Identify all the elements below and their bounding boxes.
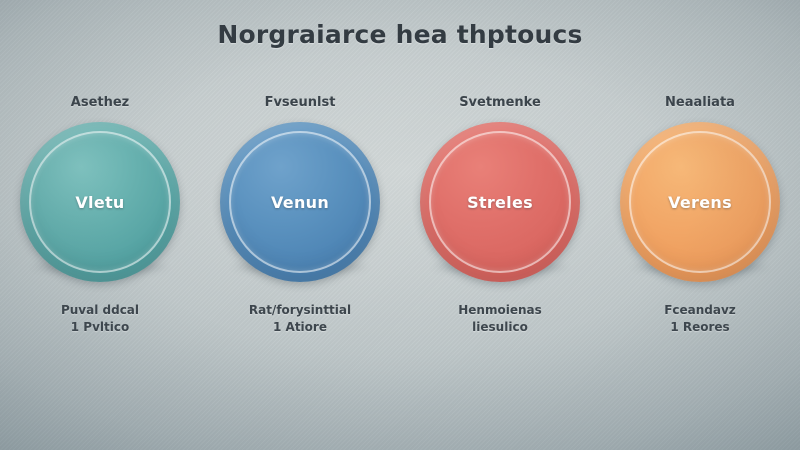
- circle-shape-2[interactable]: Venun: [220, 122, 380, 282]
- page-title: Norgraiarce hea thptoucs: [0, 20, 800, 49]
- circle-shape-4[interactable]: Verens: [620, 122, 780, 282]
- circle-caption-3: Henmoienas liesulico: [458, 302, 542, 336]
- circle-shape-3[interactable]: Streles: [420, 122, 580, 282]
- slide-canvas: Norgraiarce hea thptoucs Asethez Vletu P…: [0, 0, 800, 450]
- circle-column-4[interactable]: Neaaliata Verens Fceandavz 1 Reores: [600, 92, 800, 336]
- circle-graphic-1[interactable]: Vletu: [20, 122, 180, 282]
- circle-inner-label-1: Vletu: [75, 193, 124, 212]
- circle-column-1[interactable]: Asethez Vletu Puval ddcal 1 Pvltico: [0, 92, 200, 336]
- circle-caption-1: Puval ddcal 1 Pvltico: [61, 302, 139, 336]
- circle-caption-line2-1: 1 Pvltico: [61, 319, 139, 336]
- circle-top-label-4: Neaaliata: [665, 92, 735, 114]
- circle-caption-4: Fceandavz 1 Reores: [664, 302, 736, 336]
- circle-graphic-3[interactable]: Streles: [420, 122, 580, 282]
- circle-graphic-4[interactable]: Verens: [620, 122, 780, 282]
- circle-shape-1[interactable]: Vletu: [20, 122, 180, 282]
- circle-caption-line2-4: 1 Reores: [664, 319, 736, 336]
- circle-column-2[interactable]: Fvseunlst Venun Rat/forysinttial 1 Atior…: [200, 92, 400, 336]
- circle-top-label-1: Asethez: [71, 92, 129, 114]
- circle-top-label-2: Fvseunlst: [265, 92, 336, 114]
- circle-caption-line1-4: Fceandavz: [664, 303, 736, 317]
- circle-caption-line1-3: Henmoienas: [458, 303, 542, 317]
- circle-caption-2: Rat/forysinttial 1 Atiore: [249, 302, 351, 336]
- circle-caption-line2-3: liesulico: [458, 319, 542, 336]
- circle-graphic-2[interactable]: Venun: [220, 122, 380, 282]
- circle-row: Asethez Vletu Puval ddcal 1 Pvltico Fvse…: [0, 92, 800, 336]
- circle-caption-line1-1: Puval ddcal: [61, 303, 139, 317]
- circle-inner-label-2: Venun: [271, 193, 329, 212]
- circle-caption-line2-2: 1 Atiore: [249, 319, 351, 336]
- circle-inner-label-4: Verens: [668, 193, 732, 212]
- circle-caption-line1-2: Rat/forysinttial: [249, 303, 351, 317]
- circle-column-3[interactable]: Svetmenke Streles Henmoienas liesulico: [400, 92, 600, 336]
- circle-top-label-3: Svetmenke: [459, 92, 541, 114]
- circle-inner-label-3: Streles: [467, 193, 533, 212]
